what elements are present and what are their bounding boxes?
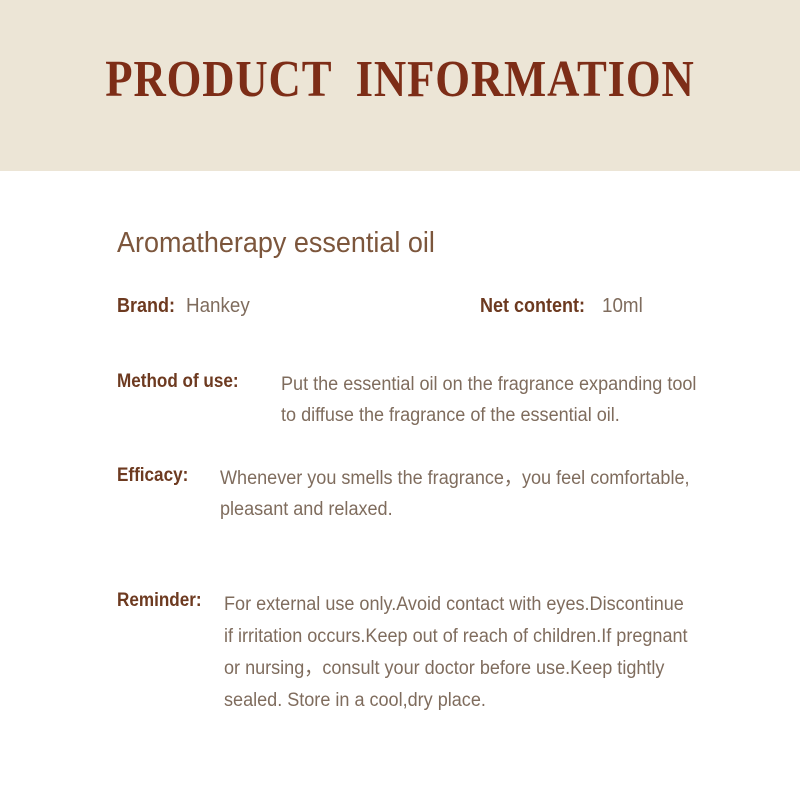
- brand-field: Brand:Hankey: [117, 293, 254, 319]
- reminder-label: Reminder:: [117, 589, 202, 613]
- efficacy-line-1: Whenever you smells the fragrance，you fe…: [220, 463, 754, 494]
- efficacy-text: Whenever you smells the fragrance，you fe…: [220, 463, 754, 525]
- method-of-use-line-1: Put the essential oil on the fragrance e…: [281, 369, 757, 400]
- reminder-line-3: or nursing，consult your doctor before us…: [224, 653, 754, 685]
- net-content-field: Net content:10ml: [480, 293, 645, 319]
- net-content-value: 10ml: [602, 293, 643, 319]
- section-method-of-use: Method of use: Put the essential oil on …: [117, 369, 782, 431]
- efficacy-line-2: pleasant and relaxed.: [220, 494, 754, 525]
- content-area: Aromatherapy essential oil Brand:Hankey …: [0, 171, 800, 800]
- page-title: PRODUCT INFORMATION: [56, 52, 744, 108]
- section-reminder: Reminder: For external use only.Avoid co…: [117, 589, 782, 717]
- header-band: PRODUCT INFORMATION: [0, 0, 800, 171]
- product-information-page: PRODUCT INFORMATION Aromatherapy essenti…: [0, 0, 800, 800]
- method-of-use-line-2: to diffuse the fragrance of the essentia…: [281, 400, 757, 431]
- reminder-text: For external use only.Avoid contact with…: [224, 589, 754, 717]
- product-name: Aromatherapy essential oil: [117, 226, 435, 260]
- section-efficacy: Efficacy: Whenever you smells the fragra…: [117, 463, 782, 525]
- brand-value: Hankey: [186, 293, 250, 319]
- method-of-use-label: Method of use:: [117, 369, 239, 395]
- reminder-line-1: For external use only.Avoid contact with…: [224, 589, 754, 621]
- reminder-line-2: if irritation occurs.Keep out of reach o…: [224, 621, 754, 653]
- reminder-line-4: sealed. Store in a cool,dry place.: [224, 685, 754, 717]
- method-of-use-text: Put the essential oil on the fragrance e…: [281, 369, 757, 431]
- net-content-label: Net content:: [480, 293, 585, 319]
- efficacy-label: Efficacy:: [117, 463, 188, 489]
- brand-label: Brand:: [117, 293, 175, 319]
